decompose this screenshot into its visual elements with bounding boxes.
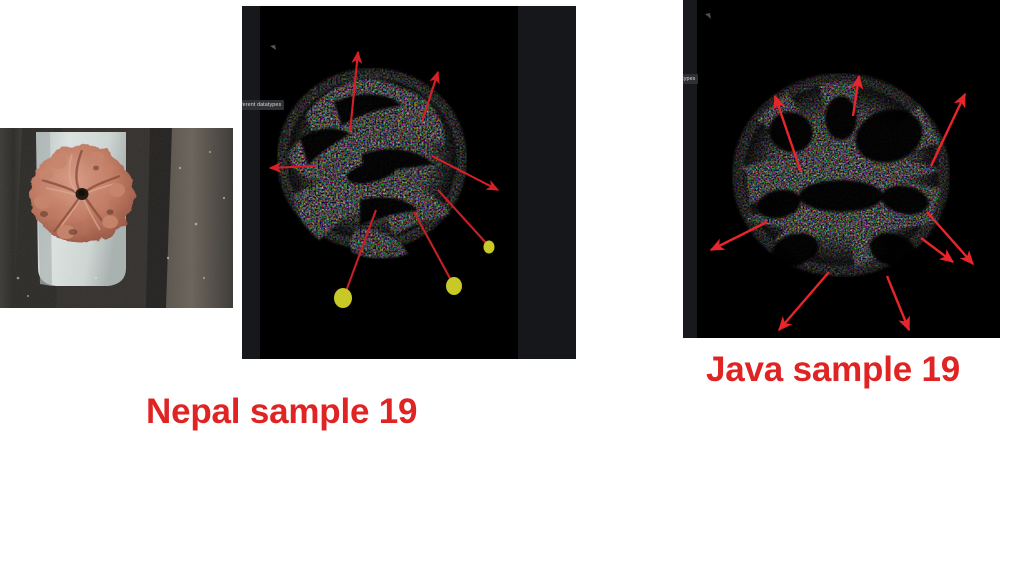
nepal-ct-graphic <box>242 4 576 359</box>
nepal-tooltip-chip: ferent datatypes <box>242 100 284 110</box>
java-ct-scan: atypes <box>683 0 1000 338</box>
java-sample-caption: Java sample 19 <box>706 350 960 390</box>
bead-photo-graphic <box>0 128 233 308</box>
figure-canvas: ferent datatypes <box>0 0 1024 576</box>
rudraksha-bead-photo <box>0 128 233 308</box>
cursor-glyph-icon <box>705 12 715 19</box>
nepal-ct-scan: ferent datatypes <box>242 4 576 359</box>
java-ct-graphic <box>683 0 1000 338</box>
nepal-sample-caption: Nepal sample 19 <box>146 392 417 432</box>
cursor-glyph-icon <box>270 44 279 50</box>
java-tooltip-chip: atypes <box>683 74 698 84</box>
